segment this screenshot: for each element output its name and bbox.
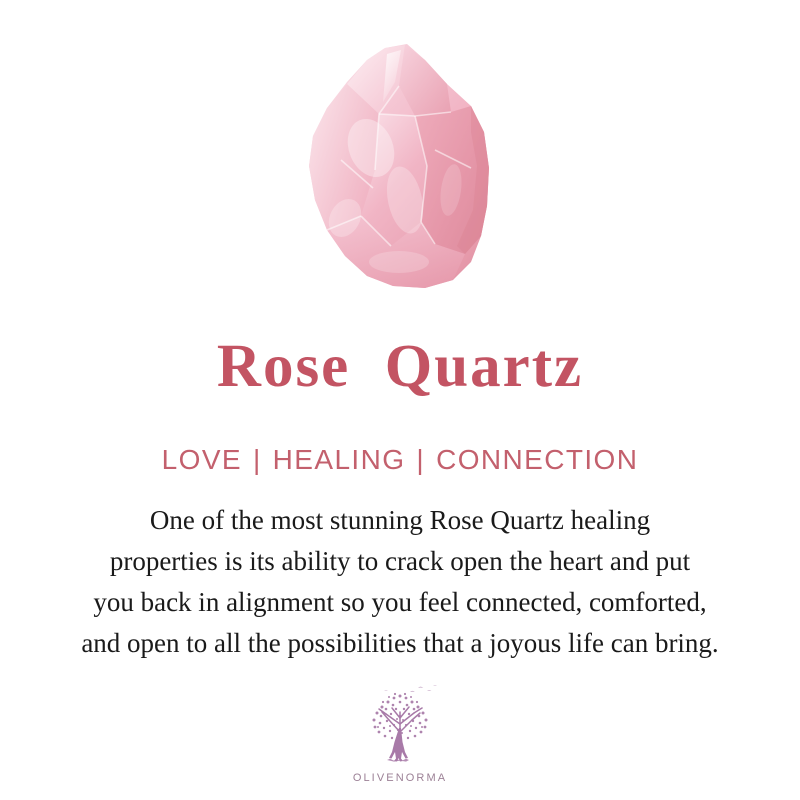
keyword-connection: CONNECTION <box>436 444 638 476</box>
keyword-separator-2: | <box>405 444 436 476</box>
description-line-4: and open to all the possibilities that a… <box>28 623 772 664</box>
description-line-2: properties is its ability to crack open … <box>28 541 772 582</box>
description-line-1: One of the most stunning Rose Quartz hea… <box>28 500 772 541</box>
brand-logo: OLIVENORMA <box>0 682 800 784</box>
tree-of-life-icon <box>354 682 446 770</box>
description-paragraph: One of the most stunning Rose Quartz hea… <box>28 500 772 664</box>
keyword-love: LOVE <box>162 444 242 476</box>
keyword-separator-1: | <box>242 444 273 476</box>
page-title: Rose Quartz <box>0 336 800 397</box>
crystal-image-container <box>0 40 800 295</box>
keyword-healing: HEALING <box>273 444 406 476</box>
description-line-3: you back in alignment so you feel connec… <box>28 582 772 623</box>
rose-quartz-info-card: Rose Quartz LOVE | HEALING | CONNECTION … <box>0 0 800 800</box>
rose-quartz-crystal-icon <box>275 40 525 290</box>
birds-icon <box>384 685 437 692</box>
brand-name-text: OLIVENORMA <box>353 772 447 784</box>
keyword-subtitle: LOVE | HEALING | CONNECTION <box>0 444 800 476</box>
